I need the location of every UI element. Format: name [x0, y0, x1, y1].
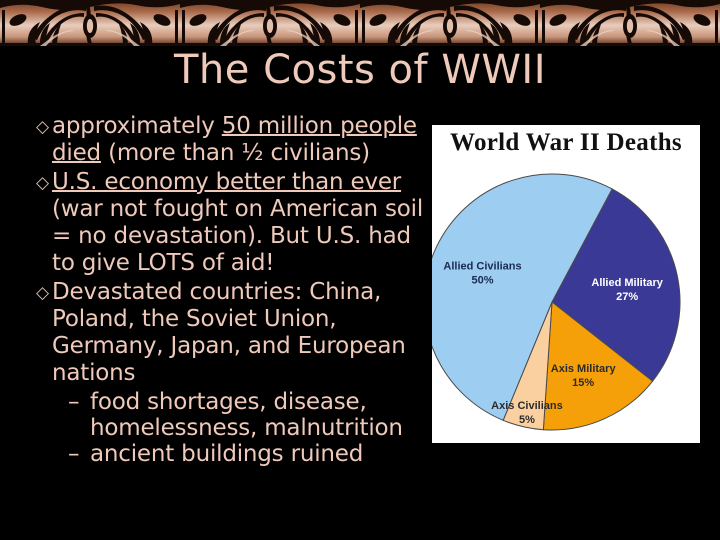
- list-item: ◇ Devastated countries: China, Poland, t…: [22, 279, 430, 387]
- pie-slice-label: Axis Military: [551, 363, 617, 375]
- pie-slice-value: 27%: [616, 291, 638, 303]
- diamond-bullet-icon: ◇: [22, 113, 52, 141]
- list-item: ◇ approximately 50 million people died (…: [22, 113, 430, 167]
- bullet-list: ◇ approximately 50 million people died (…: [22, 113, 430, 468]
- pie-slice-label: Allied Military: [591, 277, 663, 289]
- sub-list-item: – food shortages, disease, homelessness,…: [68, 389, 430, 441]
- list-item: ◇ U.S. economy better than ever (war not…: [22, 169, 430, 277]
- pie-slice-value: 5%: [519, 414, 535, 426]
- presentation-slide: The Costs of WWII ◇ approximately 50 mil…: [0, 0, 720, 540]
- sub-list-item: – ancient buildings ruined: [68, 441, 430, 468]
- list-item-text: approximately 50 million people died (mo…: [52, 113, 430, 167]
- decorative-border-ornament: [0, 0, 720, 46]
- bullet-segment-underlined: U.S. economy better than ever: [52, 169, 401, 195]
- pie-slice-label: Axis Civilians: [491, 400, 563, 412]
- sub-list-item-text: ancient buildings ruined: [90, 441, 430, 467]
- dash-bullet-icon: –: [68, 389, 90, 416]
- pie-chart-image: World War II Deaths Allied Military27%Ax…: [432, 125, 700, 443]
- diamond-bullet-icon: ◇: [22, 279, 52, 307]
- chart-title: World War II Deaths: [432, 129, 700, 157]
- pie-slice-label: Allied Civilians: [443, 260, 521, 272]
- dash-bullet-icon: –: [68, 441, 90, 468]
- bullet-segment-plain: (war not fought on American soil = no de…: [52, 196, 423, 276]
- bullet-segment-plain: (more than ½ civilians): [101, 140, 370, 166]
- page-title: The Costs of WWII: [0, 50, 720, 90]
- sub-bullet-list: – food shortages, disease, homelessness,…: [22, 389, 430, 468]
- pie-slice-value: 50%: [472, 274, 494, 286]
- list-item-text: U.S. economy better than ever (war not f…: [52, 169, 430, 277]
- bullet-segment-plain: approximately: [52, 113, 222, 139]
- list-item-text: Devastated countries: China, Poland, the…: [52, 279, 430, 387]
- pie-slice-value: 15%: [572, 377, 594, 389]
- sub-list-item-text: food shortages, disease, homelessness, m…: [90, 389, 430, 441]
- pie-chart-canvas: Allied Military27%Axis Military15%Axis C…: [432, 161, 700, 443]
- diamond-bullet-icon: ◇: [22, 169, 52, 197]
